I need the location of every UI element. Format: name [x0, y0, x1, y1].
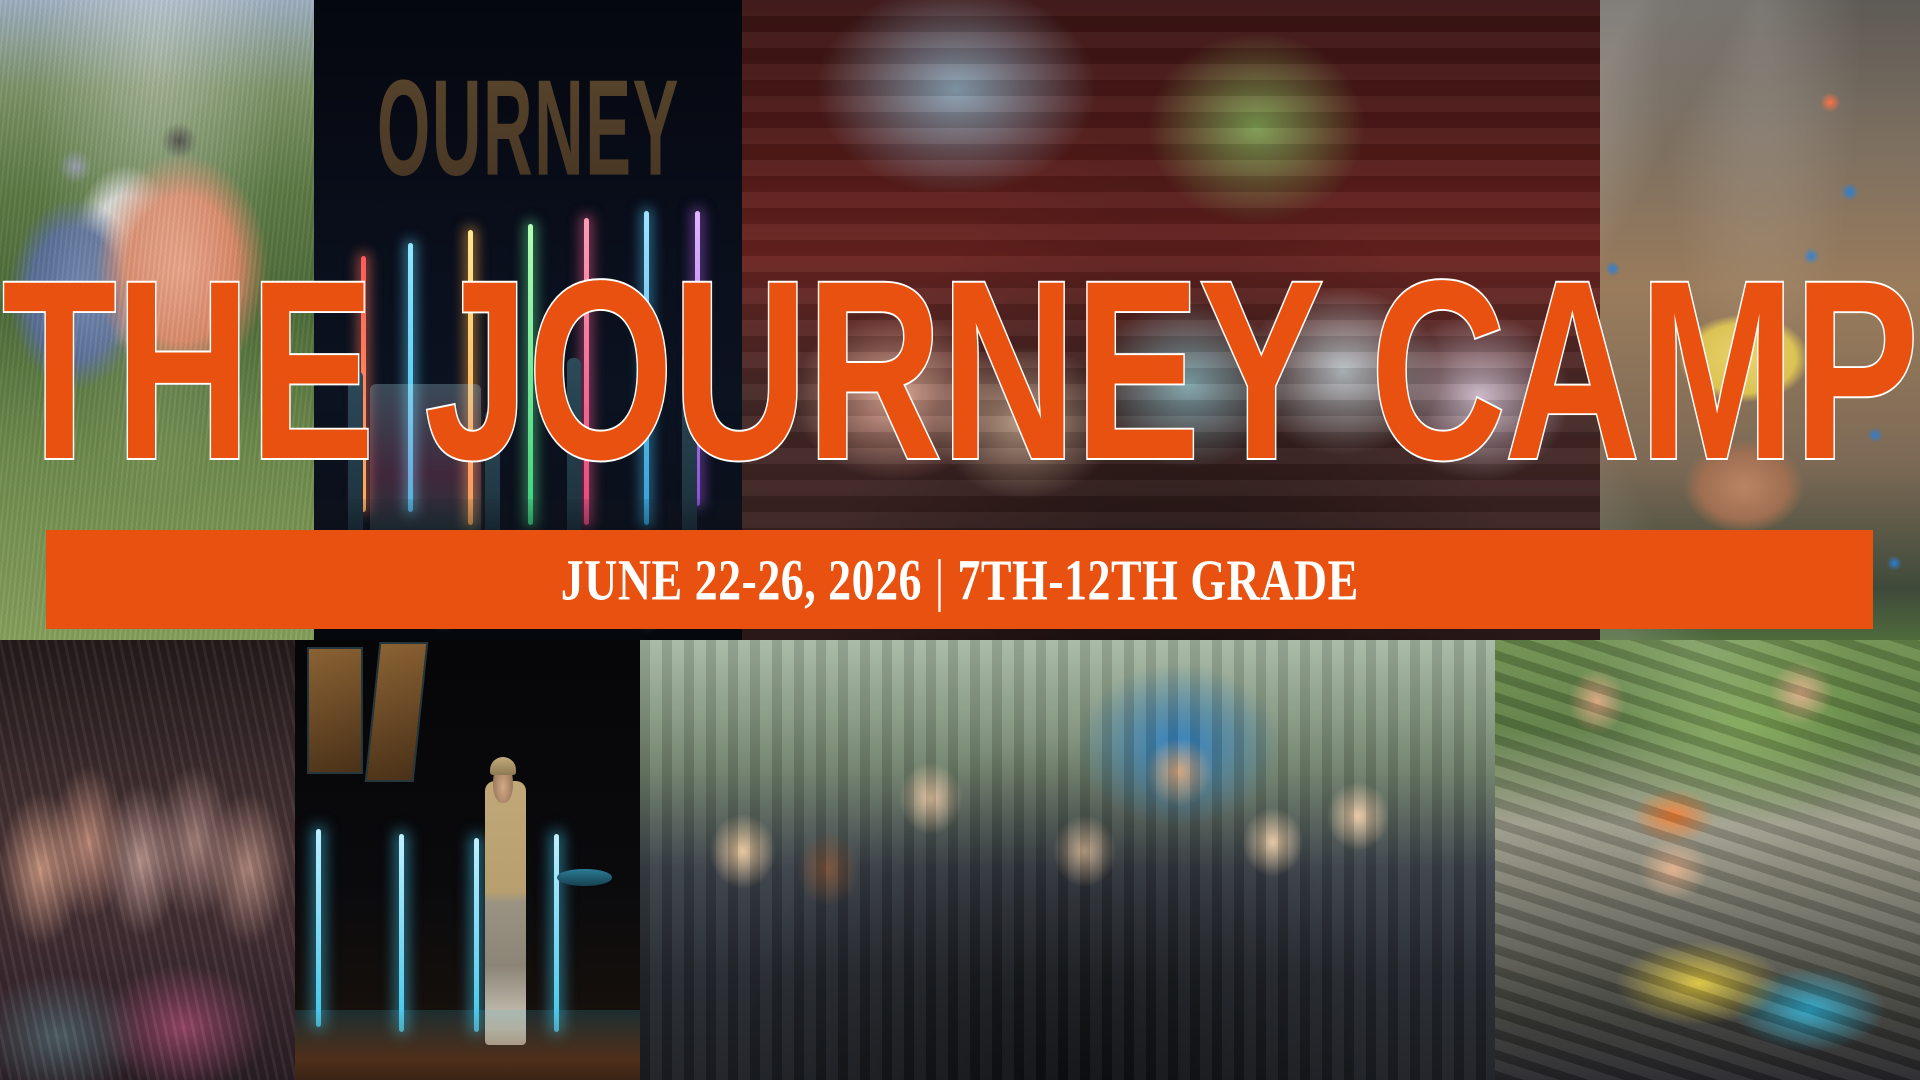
- photo-speaker-stage-image: [295, 640, 640, 1080]
- neon-tube-icon: [644, 211, 649, 525]
- photo-tubing: [1495, 640, 1920, 1080]
- neon-tube-icon: [554, 834, 559, 1032]
- stage-letter-y: [367, 644, 426, 780]
- photo-lake-group: [640, 640, 1495, 1080]
- banner-separator: |: [922, 546, 957, 613]
- photo-lake-group-image: [640, 640, 1495, 1080]
- event-grades: 7TH-12TH GRADE: [957, 547, 1358, 612]
- stage-stool: [557, 869, 612, 887]
- neon-tube-icon: [316, 829, 321, 1027]
- neon-tube-icon: [399, 834, 404, 1032]
- neon-tube-icon: [474, 838, 479, 1032]
- photo-speaker-stage: [295, 640, 640, 1080]
- neon-tube-icon: [584, 218, 589, 525]
- event-dates: JUNE 22-26, 2026: [560, 547, 921, 612]
- event-details-banner: JUNE 22-26, 2026|7TH-12TH GRADE: [46, 530, 1873, 629]
- photo-tubing-image: [1495, 640, 1920, 1080]
- photo-worship-hands: [0, 640, 295, 1080]
- photo-worship-hands-image: [0, 640, 295, 1080]
- speaker-cap: [490, 757, 516, 775]
- neon-tube-icon: [528, 224, 533, 525]
- camp-promo-poster: OURNEY: [0, 0, 1920, 1080]
- event-details-text: JUNE 22-26, 2026|7TH-12TH GRADE: [560, 546, 1358, 613]
- stage-floor: [295, 1010, 640, 1080]
- speaker-figure: [485, 781, 526, 1045]
- collage-bottom-row: [0, 640, 1920, 1080]
- stage-letter-e: [309, 649, 361, 772]
